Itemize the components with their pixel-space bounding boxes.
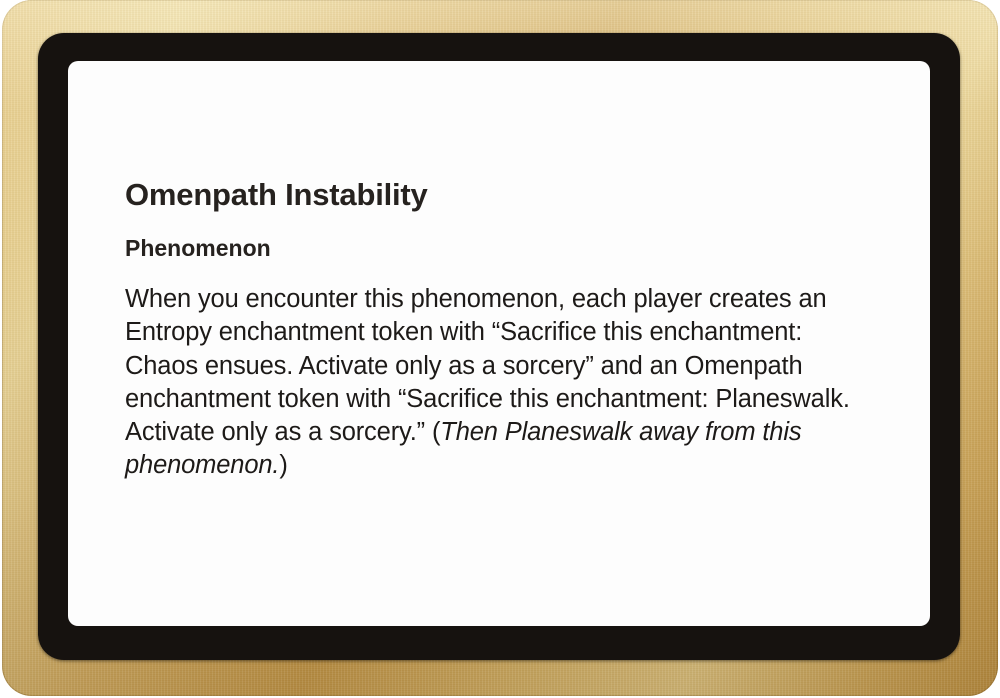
card-type-line: Phenomenon: [125, 237, 877, 260]
card-scan-image: Omenpath Instability Phenomenon When you…: [0, 0, 1000, 698]
card-rules-text: When you encounter this phenomenon, each…: [125, 283, 877, 483]
card-rules-text-close: ): [279, 451, 287, 479]
card-text-block: Omenpath Instability Phenomenon When you…: [125, 179, 877, 483]
card-face: Omenpath Instability Phenomenon When you…: [68, 61, 930, 626]
card-title: Omenpath Instability: [125, 179, 877, 210]
